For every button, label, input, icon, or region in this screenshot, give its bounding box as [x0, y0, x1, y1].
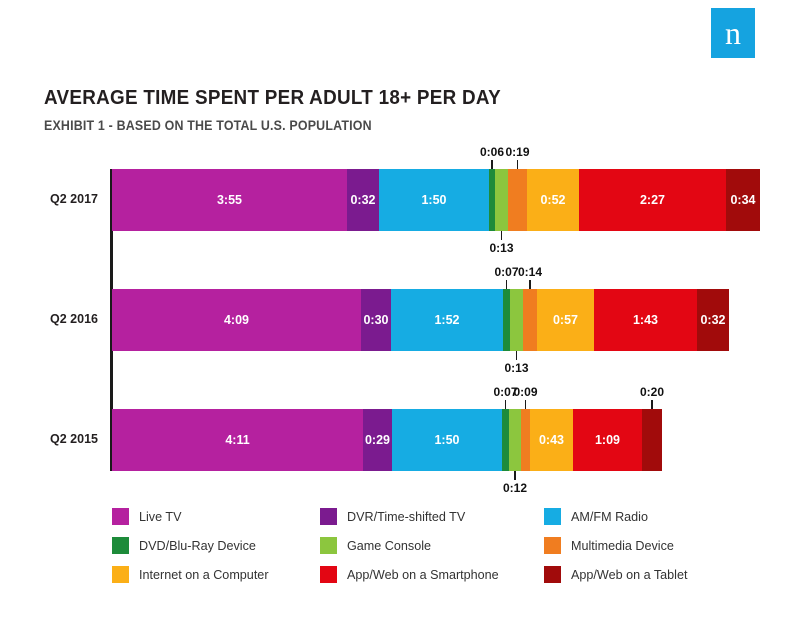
- callout-leader-line: [505, 400, 507, 409]
- callout-leader-line: [514, 471, 516, 480]
- legend-label: Live TV: [139, 510, 181, 524]
- bar-segment[interactable]: [495, 169, 508, 231]
- segment-value: 1:09: [573, 434, 642, 447]
- category-label: Q2 2016: [18, 312, 98, 326]
- segment-callout: 0:20: [622, 385, 682, 399]
- bar-segment[interactable]: 0:29: [363, 409, 392, 471]
- segment-value: 4:09: [112, 314, 361, 327]
- bar-segment[interactable]: [509, 409, 521, 471]
- bar-segment[interactable]: 0:43: [530, 409, 573, 471]
- legend-swatch: [112, 537, 129, 554]
- segment-value: 1:50: [379, 194, 489, 207]
- table-row: 3:550:321:500:522:270:34: [112, 169, 760, 231]
- legend-swatch: [544, 537, 561, 554]
- callout-leader-line: [506, 280, 508, 289]
- segment-callout: 0:13: [487, 361, 547, 375]
- legend-item[interactable]: Multimedia Device: [544, 537, 674, 554]
- bar-segment[interactable]: 1:52: [391, 289, 503, 351]
- bar-segment[interactable]: 4:11: [112, 409, 363, 471]
- segment-callout: 0:13: [472, 241, 532, 255]
- legend-swatch: [112, 508, 129, 525]
- legend-label: App/Web on a Tablet: [571, 568, 687, 582]
- segment-callout: 0:09: [496, 385, 556, 399]
- bar-segment[interactable]: 0:34: [726, 169, 760, 231]
- category-label: Q2 2017: [18, 192, 98, 206]
- bar-segment[interactable]: 1:50: [379, 169, 489, 231]
- legend-swatch: [320, 508, 337, 525]
- bar-segment[interactable]: [502, 409, 509, 471]
- legend-swatch: [544, 508, 561, 525]
- legend-label: DVD/Blu-Ray Device: [139, 539, 256, 553]
- bar-segment[interactable]: 0:30: [361, 289, 391, 351]
- segment-value: 0:32: [697, 314, 729, 327]
- segment-value: 3:55: [112, 194, 347, 207]
- segment-value: 0:32: [347, 194, 379, 207]
- callout-leader-line: [529, 280, 531, 289]
- bar-segment[interactable]: 3:55: [112, 169, 347, 231]
- segment-value: 1:43: [594, 314, 697, 327]
- bar-segment[interactable]: 1:43: [594, 289, 697, 351]
- legend-item[interactable]: DVR/Time-shifted TV: [320, 508, 465, 525]
- bar-segment[interactable]: 1:50: [392, 409, 502, 471]
- bar-segment[interactable]: [508, 169, 527, 231]
- bar-segment[interactable]: 0:32: [347, 169, 379, 231]
- callout-leader-line: [525, 400, 527, 409]
- callout-leader-line: [516, 351, 518, 360]
- bar-segment[interactable]: 1:09: [573, 409, 642, 471]
- category-label: Q2 2015: [18, 432, 98, 446]
- legend-label: DVR/Time-shifted TV: [347, 510, 465, 524]
- legend-item[interactable]: Game Console: [320, 537, 431, 554]
- bar-segment[interactable]: 2:27: [579, 169, 726, 231]
- segment-value: 0:57: [537, 314, 594, 327]
- segment-value: 0:52: [527, 194, 579, 207]
- segment-value: 0:43: [530, 434, 573, 447]
- legend-label: App/Web on a Smartphone: [347, 568, 499, 582]
- callout-leader-line: [491, 160, 493, 169]
- segment-value: 2:27: [579, 194, 726, 207]
- legend-label: Game Console: [347, 539, 431, 553]
- callout-leader-line: [501, 231, 503, 240]
- table-row: 4:090:301:520:571:430:32: [112, 289, 729, 351]
- stacked-bar-chart: Q2 20173:550:321:500:522:270:340:060:130…: [0, 0, 800, 623]
- legend-item[interactable]: App/Web on a Tablet: [544, 566, 687, 583]
- segment-callout: 0:19: [488, 145, 548, 159]
- bar-segment[interactable]: [503, 289, 510, 351]
- legend-item[interactable]: App/Web on a Smartphone: [320, 566, 499, 583]
- legend-item[interactable]: AM/FM Radio: [544, 508, 648, 525]
- segment-callout: 0:12: [485, 481, 545, 495]
- legend-swatch: [320, 537, 337, 554]
- legend-item[interactable]: Internet on a Computer: [112, 566, 269, 583]
- bar-segment[interactable]: [510, 289, 523, 351]
- bar-segment[interactable]: 0:32: [697, 289, 729, 351]
- legend-swatch: [112, 566, 129, 583]
- legend-item[interactable]: DVD/Blu-Ray Device: [112, 537, 256, 554]
- bar-segment[interactable]: 4:09: [112, 289, 361, 351]
- legend-swatch: [320, 566, 337, 583]
- bar-segment[interactable]: 0:57: [537, 289, 594, 351]
- callout-leader-line: [651, 400, 653, 409]
- segment-value: 1:50: [392, 434, 502, 447]
- segment-value: 0:29: [363, 434, 392, 447]
- callout-leader-line: [517, 160, 519, 169]
- legend-label: Multimedia Device: [571, 539, 674, 553]
- table-row: 4:110:291:500:431:09: [112, 409, 662, 471]
- segment-value: 4:11: [112, 434, 363, 447]
- segment-value: 0:30: [361, 314, 391, 327]
- legend-label: Internet on a Computer: [139, 568, 269, 582]
- segment-value: 0:34: [726, 194, 760, 207]
- bar-segment[interactable]: 0:52: [527, 169, 579, 231]
- legend-swatch: [544, 566, 561, 583]
- bar-segment[interactable]: [523, 289, 537, 351]
- legend-item[interactable]: Live TV: [112, 508, 181, 525]
- bar-segment[interactable]: [521, 409, 530, 471]
- bar-segment[interactable]: [642, 409, 662, 471]
- legend-label: AM/FM Radio: [571, 510, 648, 524]
- segment-value: 1:52: [391, 314, 503, 327]
- segment-callout: 0:14: [500, 265, 560, 279]
